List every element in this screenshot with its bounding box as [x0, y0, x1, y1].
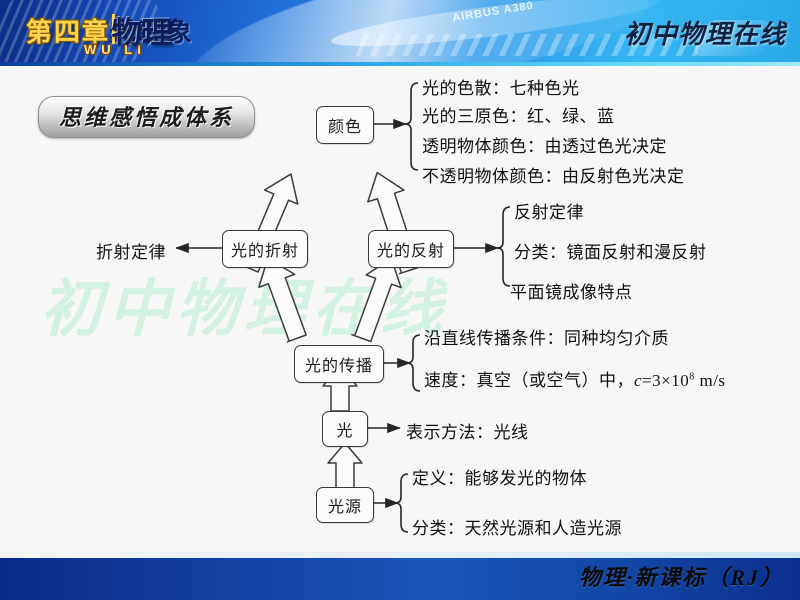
node-light-source-label: 光源 — [328, 493, 362, 517]
node-propagation-label: 光的传播 — [305, 352, 373, 376]
speed-unit: m/s — [695, 371, 726, 390]
light-branch-item: 表示方法：光线 — [406, 418, 529, 443]
node-propagation[interactable]: 光的传播 — [294, 345, 384, 383]
site-name: 初中物理在线 — [624, 14, 786, 51]
reflection-branch-item: 平面镜成像特点 — [510, 278, 633, 303]
speed-symbol: c — [634, 371, 642, 390]
speed-equals: =3×10 — [642, 371, 689, 390]
light-source-branch-item: 分类：天然光源和人造光源 — [412, 514, 622, 539]
reflection-branch-item: 分类：镜面反射和漫反射 — [514, 238, 707, 263]
node-light-source[interactable]: 光源 — [316, 487, 374, 523]
diagram-connectors — [0, 66, 800, 536]
propagation-speed-item: 速度：真空（或空气）中，c=3×108 m/s — [424, 366, 726, 391]
slide-header: AIRBUS A380 第四章光现象 物理 WU LI 初中物理在线 — [0, 0, 800, 62]
node-color-label: 颜色 — [328, 113, 362, 137]
color-branch-item: 光的三原色：红、绿、蓝 — [422, 102, 615, 127]
refraction-law-label: 折射定律 — [96, 238, 166, 263]
node-light-label: 光 — [336, 417, 353, 441]
node-refraction[interactable]: 光的折射 — [222, 230, 308, 268]
color-branch-item: 不透明物体颜色：由反射色光决定 — [422, 162, 685, 187]
footer-label: 物理·新课标（RJ） — [579, 560, 784, 592]
propagation-speed-prefix: 速度：真空（或空气）中， — [424, 371, 634, 390]
color-branch-item: 光的色散：七种色光 — [422, 74, 580, 99]
node-color[interactable]: 颜色 — [316, 106, 374, 144]
color-branch-item: 透明物体颜色：由透过色光决定 — [422, 132, 667, 157]
propagation-branch-item: 沿直线传播条件：同种均匀介质 — [424, 324, 669, 349]
node-refraction-label: 光的折射 — [231, 237, 299, 261]
node-reflection-label: 光的反射 — [377, 237, 445, 261]
concept-map: 颜色 光的折射 光的反射 光的传播 光 光源 光的色散：七种色光 光的三原色：红… — [0, 66, 800, 536]
light-source-branch-item: 定义：能够发光的物体 — [412, 464, 587, 489]
node-light[interactable]: 光 — [322, 411, 368, 447]
reflection-branch-item: 反射定律 — [514, 198, 584, 223]
node-reflection[interactable]: 光的反射 — [368, 230, 454, 268]
slide-canvas: AIRBUS A380 第四章光现象 物理 WU LI 初中物理在线 思维感悟成… — [0, 0, 800, 600]
brand-logo-cn: 物理 — [111, 8, 172, 52]
